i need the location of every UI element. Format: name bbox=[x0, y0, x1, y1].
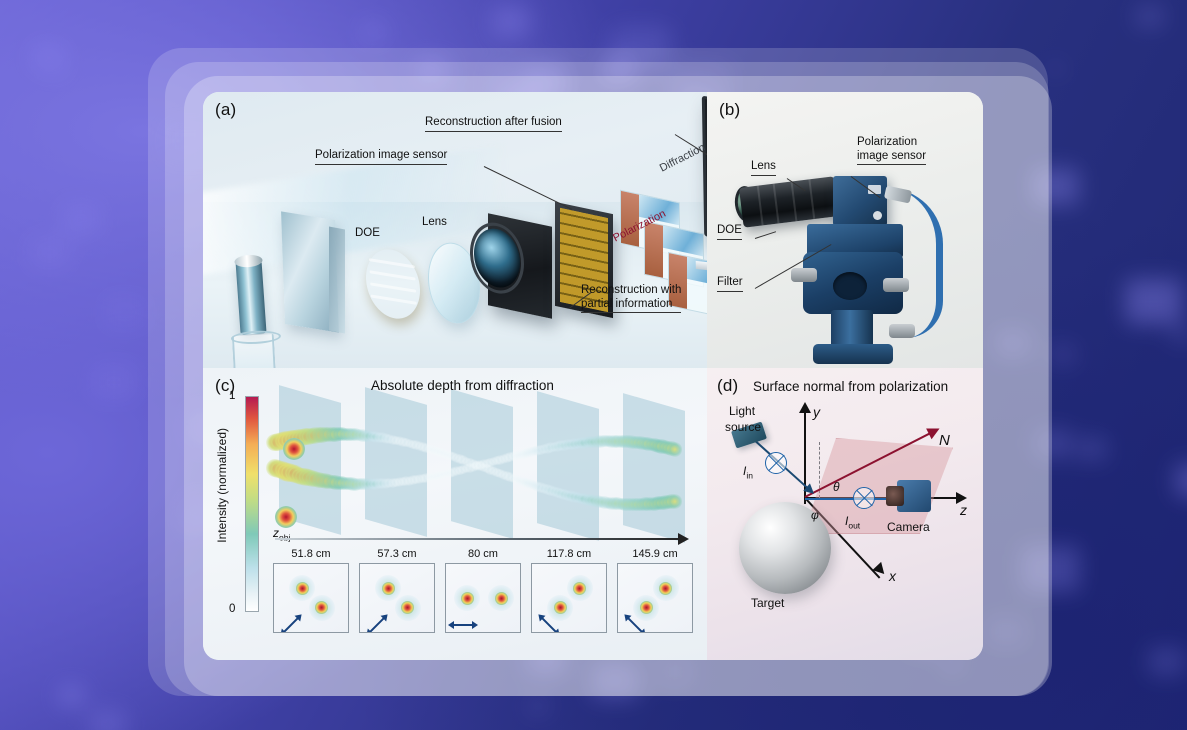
target-label: Target bbox=[751, 596, 784, 610]
target-beaker-object bbox=[232, 334, 276, 368]
tripod-base bbox=[813, 344, 893, 364]
callout-b-pol-line2: image sensor bbox=[857, 150, 926, 162]
panel-c-depth-from-diffraction: (c) Absolute depth from diffraction 1 0 … bbox=[203, 368, 707, 660]
psf-thumbnail-image bbox=[273, 563, 349, 633]
psf-thumbnail-3: 80 cm bbox=[445, 548, 521, 633]
psf-bright-focus-1 bbox=[283, 438, 305, 460]
diffraction-volume-3d bbox=[269, 394, 693, 534]
tripod-knob-lower bbox=[889, 324, 915, 338]
panel-d-title: Surface normal from polarization bbox=[753, 379, 948, 394]
tripod-head-cutout bbox=[833, 272, 867, 300]
y-axis-label: y bbox=[813, 404, 820, 420]
panel-c-title: Absolute depth from diffraction bbox=[371, 378, 554, 393]
panel-a-system-overview: (a) bbox=[203, 92, 707, 368]
psf-thumbnail-image bbox=[359, 563, 435, 633]
psf-lobe-core-b bbox=[461, 592, 474, 605]
camera-icon-lens bbox=[886, 486, 904, 506]
bokeh-tile bbox=[1135, 5, 1163, 28]
tripod-knob-right bbox=[883, 278, 909, 292]
callout-b-lens: Lens bbox=[751, 160, 776, 176]
callout-b-pol-line1: Polarization bbox=[857, 136, 917, 148]
psf-lobe-core-b bbox=[296, 582, 309, 595]
target-plate-object-2 bbox=[329, 226, 345, 333]
panel-d-label: (d) bbox=[717, 376, 738, 396]
bokeh-tile bbox=[1175, 464, 1187, 497]
panel-b-label: (b) bbox=[719, 100, 740, 120]
bokeh-tile bbox=[1077, 437, 1107, 461]
psf-orientation-arrow bbox=[369, 617, 386, 633]
psf-thumbnail-4: 117.8 cm bbox=[531, 548, 607, 633]
psf-orientation-arrow bbox=[452, 624, 474, 626]
psf-thumbnail-2: 57.3 cm bbox=[359, 548, 435, 633]
leader-b-doe bbox=[755, 231, 776, 239]
psf-thumbnail-label: 57.3 cm bbox=[359, 548, 435, 560]
bokeh-tile bbox=[90, 710, 126, 730]
callout-polarization-image-sensor-text: Polarization image sensor bbox=[315, 149, 447, 161]
x-axis-arrowhead bbox=[872, 562, 888, 578]
phi-label: φ bbox=[811, 508, 819, 522]
normal-label: N bbox=[939, 432, 950, 449]
psf-thumbnail-1: 51.8 cm bbox=[273, 548, 349, 633]
callout-b-filter: Filter bbox=[717, 276, 743, 292]
panel-c-label: (c) bbox=[215, 376, 235, 396]
psf-bright-focus-2 bbox=[275, 506, 297, 528]
psf-lobe-core-a bbox=[659, 582, 672, 595]
propagation-plane-4 bbox=[537, 391, 599, 541]
colorbar-axis-label: Intensity (normalized) bbox=[215, 428, 229, 543]
polarizer-in-icon bbox=[765, 452, 787, 474]
bokeh-tile bbox=[29, 236, 71, 269]
cube-2-front-face bbox=[645, 222, 663, 278]
panel-d-surface-normal: (d) Surface normal from polarization y z… bbox=[707, 368, 983, 660]
callout-b-doe-text: DOE bbox=[717, 224, 742, 236]
label-diffraction: Diffraction bbox=[658, 142, 707, 176]
intensity-colorbar bbox=[245, 396, 259, 612]
camera-lens-tube bbox=[739, 176, 839, 227]
bokeh-tile bbox=[1148, 647, 1185, 677]
bokeh-tile bbox=[492, 6, 530, 36]
callout-reconstruction-after-fusion: Reconstruction after fusion bbox=[425, 116, 562, 132]
bokeh-tile bbox=[91, 364, 137, 401]
intensity-in-label: Iin bbox=[743, 464, 753, 480]
bokeh-tile bbox=[33, 44, 64, 69]
camera-port bbox=[873, 211, 882, 220]
bokeh-tile bbox=[1125, 279, 1182, 324]
psf-lobe-core-b bbox=[554, 601, 567, 614]
colorbar-min-label: 0 bbox=[229, 603, 235, 615]
target-can-object bbox=[235, 259, 266, 335]
theta-label: θ bbox=[833, 480, 840, 494]
panel-a-label: (a) bbox=[215, 100, 236, 120]
camera-label: Camera bbox=[887, 520, 930, 534]
callout-partial-line2: partial information bbox=[581, 298, 672, 310]
light-source-label-line1: Light bbox=[729, 404, 755, 418]
polarizer-out-icon bbox=[853, 487, 875, 509]
psf-lobe-sample bbox=[668, 442, 683, 457]
callout-b-doe: DOE bbox=[717, 224, 742, 240]
psf-orientation-arrow bbox=[283, 617, 300, 633]
propagation-plane-5 bbox=[623, 393, 685, 543]
callout-reconstruction-partial: Reconstruction with partial information bbox=[581, 284, 681, 313]
label-doe: DOE bbox=[355, 227, 380, 241]
bokeh-tile bbox=[59, 686, 83, 705]
callout-reconstruction-after-fusion-text: Reconstruction after fusion bbox=[425, 116, 562, 128]
propagation-plane-2 bbox=[365, 387, 427, 537]
camera-body bbox=[488, 213, 552, 319]
z-axis-label: z bbox=[960, 502, 967, 518]
psf-lobe-core-b bbox=[382, 582, 395, 595]
psf-thumbnail-image bbox=[531, 563, 607, 633]
x-axis-label: x bbox=[889, 568, 896, 584]
figure-plate: (a) bbox=[203, 92, 983, 660]
bokeh-tile bbox=[1170, 325, 1187, 344]
psf-thumbnail-label: 51.8 cm bbox=[273, 548, 349, 560]
intensity-out-label: Iout bbox=[845, 514, 860, 530]
y-axis-arrowhead bbox=[799, 402, 811, 413]
psf-thumbnail-image bbox=[617, 563, 693, 633]
callout-b-filter-text: Filter bbox=[717, 276, 743, 288]
camera-icon bbox=[897, 480, 931, 512]
tripod-knob-left bbox=[791, 268, 817, 282]
light-source-label-line2: source bbox=[725, 420, 761, 434]
psf-lobe-core-a bbox=[573, 582, 586, 595]
bokeh-tile bbox=[1046, 61, 1066, 77]
psf-thumbnail-strip: 51.8 cm57.3 cm80 cm117.8 cm145.9 cm bbox=[273, 548, 697, 633]
callout-b-lens-text: Lens bbox=[751, 160, 776, 172]
panel-b-prototype-photo: (b) Polarization image sensor Lens bbox=[707, 92, 983, 368]
bokeh-tile bbox=[527, 698, 549, 715]
psf-thumbnail-label: 80 cm bbox=[445, 548, 521, 560]
bokeh-tile bbox=[1049, 344, 1076, 366]
psf-lobe-core-a bbox=[495, 592, 508, 605]
callout-b-polarization-sensor: Polarization image sensor bbox=[857, 136, 926, 165]
psf-thumbnail-image bbox=[445, 563, 521, 633]
z-axis-arrow bbox=[275, 538, 687, 540]
psf-thumbnail-label: 145.9 cm bbox=[617, 548, 693, 560]
callout-partial-line1: Reconstruction with bbox=[581, 284, 681, 296]
bokeh-tile bbox=[62, 204, 101, 235]
bokeh-tile bbox=[361, 22, 386, 42]
psf-lobe-sample bbox=[668, 494, 683, 509]
psf-thumbnail-5: 145.9 cm bbox=[617, 548, 693, 633]
psf-thumbnail-label: 117.8 cm bbox=[531, 548, 607, 560]
bokeh-tile bbox=[103, 294, 148, 330]
label-lens: Lens bbox=[422, 216, 447, 230]
callout-polarization-image-sensor: Polarization image sensor bbox=[315, 149, 447, 165]
psf-lobe-core-b bbox=[640, 601, 653, 614]
